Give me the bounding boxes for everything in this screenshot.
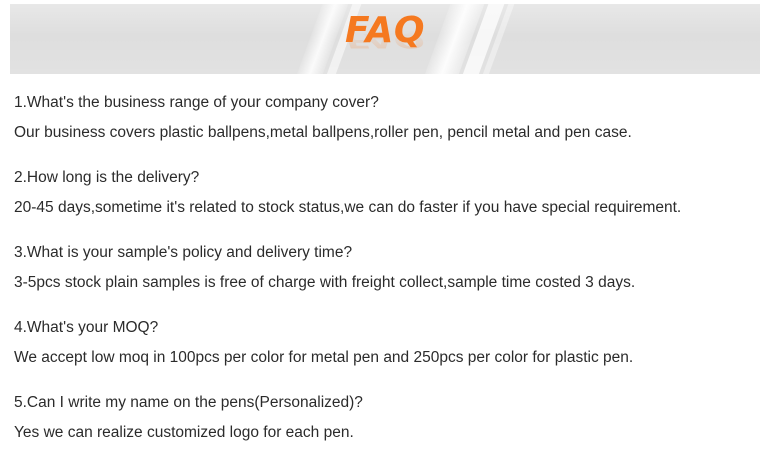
faq-answer: We accept low moq in 100pcs per color fo… [14,343,760,373]
faq-title-container: FAQ FAQ [10,13,760,74]
faq-question: 1.What's the business range of your comp… [14,88,760,118]
page-title-reflection: FAQ [10,30,760,50]
faq-banner: FAQ FAQ [10,4,760,74]
faq-item: 1.What's the business range of your comp… [14,88,760,148]
faq-item: 4.What's your MOQ? We accept low moq in … [14,313,760,373]
faq-answer: 20-45 days,sometime it's related to stoc… [14,193,760,223]
faq-item: 2.How long is the delivery? 20-45 days,s… [14,163,760,223]
faq-item: 3.What is your sample's policy and deliv… [14,238,760,298]
faq-answer: Our business covers plastic ballpens,met… [14,118,760,148]
faq-answer: 3-5pcs stock plain samples is free of ch… [14,268,760,298]
faq-question: 5.Can I write my name on the pens(Person… [14,388,760,418]
faq-question: 2.How long is the delivery? [14,163,760,193]
faq-answer: Yes we can realize customized logo for e… [14,418,760,448]
faq-page: FAQ FAQ 1.What's the business range of y… [0,0,770,472]
faq-list: 1.What's the business range of your comp… [14,88,760,463]
faq-question: 3.What is your sample's policy and deliv… [14,238,760,268]
faq-item: 5.Can I write my name on the pens(Person… [14,388,760,448]
faq-question: 4.What's your MOQ? [14,313,760,343]
